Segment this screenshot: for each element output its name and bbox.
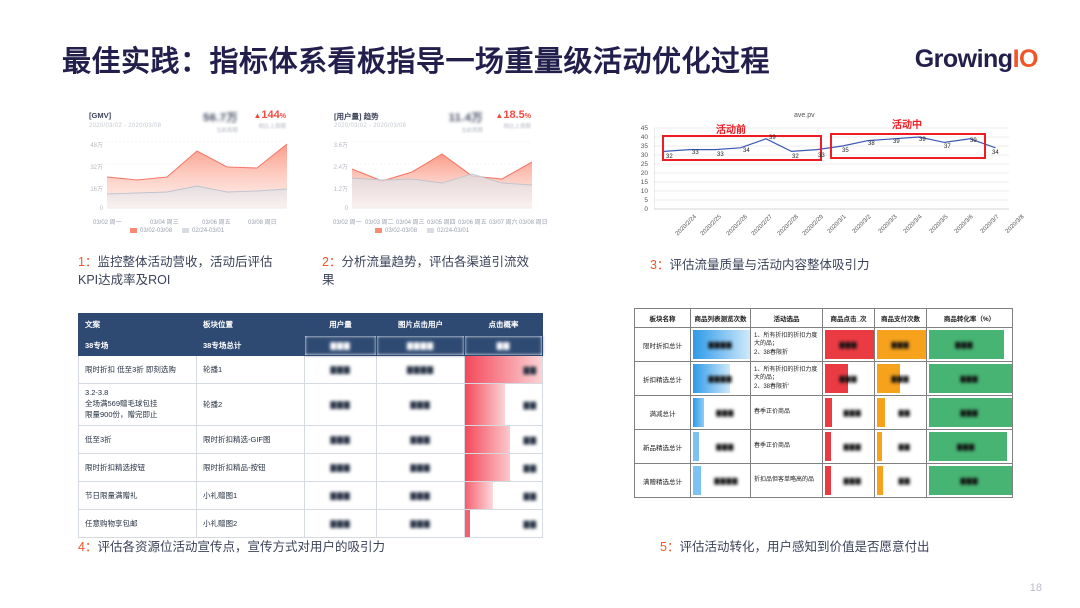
chart-avepv-label-during: 活动中 xyxy=(892,116,922,131)
cell-users: ▇▇▇ xyxy=(305,482,377,510)
views-value: ▇▇▇▇ xyxy=(709,341,733,349)
chart-gmv-delta-metric: ▲144% 相比上周期 xyxy=(238,109,286,130)
chart-avepv-ytick-5: 5 xyxy=(634,197,648,204)
chart-users-ytick-0: 3.6万 xyxy=(320,140,348,149)
views-bar-wrap: ▇▇▇ xyxy=(691,430,750,463)
cell-prob: ▇▇ xyxy=(465,356,543,384)
chart-users-xtick-6: 03/08 周日 xyxy=(519,217,548,226)
chart-avepv-point-label-1: 33 xyxy=(692,150,699,156)
pays-bar-wrap: ▇▇ xyxy=(875,464,926,497)
chart-avepv-point-label-11: 37 xyxy=(944,144,951,150)
cell-slot: 轮播2 xyxy=(197,384,305,426)
clicks-bar xyxy=(825,398,832,427)
chart-avepv-point-label-3: 34 xyxy=(743,148,750,154)
cell-picks: 1、所有折扣的折扣力度大的品； 2、38春限折' xyxy=(751,362,823,396)
table-creative-header-row: 文案 板块位置 用户量 图片点击用户 点击概率 xyxy=(79,314,543,336)
cell-users: ▇▇▇ xyxy=(305,384,377,426)
views-bar xyxy=(693,466,701,495)
cell-views: ▇▇▇▇ xyxy=(691,362,751,396)
cell-copy: 低至3折 xyxy=(79,426,197,454)
prob-value: ▇▇ xyxy=(523,435,537,444)
table-conversion: 板块名称 商品列表测览次数 活动选品 商品点击_次 商品支付次数 商品转化率（%… xyxy=(634,308,1013,498)
views-bar-wrap: ▇▇▇ xyxy=(691,396,750,429)
prob-value: ▇▇ xyxy=(523,463,537,472)
chart-avepv-point-label-10: 39 xyxy=(919,137,926,143)
cell-clicks: ▇▇▇ xyxy=(377,482,465,510)
cell-clicks: ▇▇▇ xyxy=(377,510,465,538)
cell-pays: ▇▇ xyxy=(875,430,927,464)
pays-bar xyxy=(877,466,883,495)
chart-avepv-point-label-0: 32 xyxy=(666,154,673,160)
chart-avepv-xtick-3: 2020/2/27 xyxy=(751,214,774,237)
table-conversion-header-row: 板块名称 商品列表测览次数 活动选品 商品点击_次 商品支付次数 商品转化率（%… xyxy=(635,309,1013,328)
table-row: 任意购物享包邮 小礼赠图2 ▇▇▇ ▇▇▇ ▇▇ xyxy=(79,510,543,538)
chart-avepv-box-during xyxy=(830,133,986,159)
chart-gmv-plot xyxy=(107,136,287,216)
cell-clicks: ▇▇▇ xyxy=(823,328,875,362)
table-creative-performance: 文案 板块位置 用户量 图片点击用户 点击概率 38专场 38专场总计 ▇▇▇ … xyxy=(78,313,543,538)
prob-value: ▇▇ xyxy=(523,519,537,528)
growingio-logo: GrowingIO xyxy=(915,45,1038,74)
prob-bar-wrap: ▇▇ xyxy=(465,454,542,481)
cell-prob: ▇▇ xyxy=(465,482,543,510)
chart-users-legend-item-0: 03/02-03/08 xyxy=(375,228,417,234)
pays-value: ▇▇▇ xyxy=(892,341,910,349)
pays-value: ▇▇ xyxy=(899,477,911,485)
chart-users-delta-metric: ▲18.5% 相比上周期 xyxy=(483,109,531,130)
chart-gmv-current-value: 56.7万 xyxy=(190,109,238,125)
chart-avepv-xtick-7: 2020/3/2 xyxy=(852,214,873,235)
clicks-bar-wrap: ▇▇▇ xyxy=(823,396,874,429)
table-row: 3.2-3.8 全场满569赠毛球包挂 限量900份，赠完即止 轮播2 ▇▇▇ … xyxy=(79,384,543,426)
summary-cell-4: ▇▇ xyxy=(465,336,543,356)
chart-users-xtick-3: 03/05 周四 xyxy=(427,217,456,226)
pays-bar xyxy=(877,398,885,427)
caption-2: 2：分析流量趋势，评估各渠道引流效果 xyxy=(322,253,537,289)
clicks-bar xyxy=(825,432,831,461)
clicks-value: ▇▇▇ xyxy=(844,409,862,417)
chart-gmv-legend-item-0: 03/02-03/08 xyxy=(130,228,172,234)
pays-bar-wrap: ▇▇▇ xyxy=(875,328,926,361)
cell-picks: 折扣品但客单略高的品 xyxy=(751,464,823,498)
chart-gmv-ytick-0: 48万 xyxy=(75,140,103,149)
chart-gmv-delta-unit: % xyxy=(280,113,286,120)
chart-users-delta-value: ▲18.5% xyxy=(483,109,531,121)
chart-gmv-delta-number: 144 xyxy=(261,109,279,121)
chart-users-title: [用户量] 趋势 xyxy=(334,111,379,122)
cell-clicks: ▇▇▇ xyxy=(823,362,875,396)
chart-avepv-xtick-10: 2020/3/5 xyxy=(929,214,950,235)
chart-avepv-point-label-12: 39 xyxy=(970,138,977,144)
chart-gmv-xtick-3: 03/08 周日 xyxy=(248,217,277,226)
views-value: ▇▇▇▇ xyxy=(709,375,733,383)
pays-bar-wrap: ▇▇▇ xyxy=(875,362,926,395)
chart-avepv-point-label-6: 33 xyxy=(818,153,825,159)
chart-users-daterange: 2020/03/02 - 2020/03/08 xyxy=(334,123,406,129)
table-row: 限时折扣 低至3折 即刻选购 轮播1 ▇▇▇ ▇▇▇▇ ▇▇ xyxy=(79,356,543,384)
chart-gmv-legend: 03/02-03/08 02/24-03/01 xyxy=(130,228,224,234)
cell-clicks: ▇▇▇ xyxy=(377,426,465,454)
cell-pays: ▇▇▇ xyxy=(875,328,927,362)
table-conversion-header-0: 板块名称 xyxy=(635,309,691,328)
rate-value: ▇▇▇ xyxy=(961,375,979,383)
rate-bar-wrap: ▇▇▇ xyxy=(927,396,1012,429)
chart-users-ytick-2: 1.2万 xyxy=(320,184,348,193)
caption-1-text: 监控整体活动营收，活动后评估KPI达成率及ROI xyxy=(78,255,272,287)
rate-value: ▇▇▇ xyxy=(961,409,979,417)
prob-bar xyxy=(465,510,470,537)
cell-section-name: 满赠精选总计 xyxy=(635,464,691,498)
chart-avepv-xtick-12: 2020/3/7 xyxy=(980,214,1001,235)
chart-gmv-xtick-2: 03/06 周五 xyxy=(202,217,231,226)
pays-value: ▇▇ xyxy=(899,409,911,417)
chart-avepv-xtick-11: 2020/3/6 xyxy=(954,214,975,235)
chart-avepv-ytick-30: 30 xyxy=(634,152,648,159)
chart-avepv-point-label-5: 32 xyxy=(792,154,799,160)
table-row: 满赠精选总计 ▇▇▇▇ 折扣品但客单略高的品 ▇▇▇ xyxy=(635,464,1013,498)
prob-bar xyxy=(465,482,493,509)
rate-bar-wrap: ▇▇▇ xyxy=(927,464,1012,497)
cell-views: ▇▇▇ xyxy=(691,396,751,430)
cell-clicks: ▇▇▇ xyxy=(377,454,465,482)
cell-clicks: ▇▇▇ xyxy=(823,396,875,430)
chart-avepv-label-before: 活动前 xyxy=(716,121,746,136)
clicks-bar xyxy=(825,466,831,495)
cell-copy: 限时折扣 低至3折 即刻选购 xyxy=(79,356,197,384)
cell-section-name: 满减总计 xyxy=(635,396,691,430)
table-creative-header-1: 板块位置 xyxy=(197,314,305,336)
cell-clicks: ▇▇▇▇ xyxy=(377,356,465,384)
cell-copy: 3.2-3.8 全场满569赠毛球包挂 限量900份，赠完即止 xyxy=(79,384,197,426)
views-bar xyxy=(693,432,699,461)
chart-avepv-ytick-10: 10 xyxy=(634,188,648,195)
chart-avepv-ytick-0: 0 xyxy=(634,206,648,213)
legend-swatch-current xyxy=(375,228,382,233)
chart-gmv-xtick-1: 03/04 周三 xyxy=(150,217,179,226)
cell-picks-text: 折扣品但客单略高的品 xyxy=(754,477,814,483)
prob-value: ▇▇ xyxy=(523,400,537,409)
cell-clicks: ▇▇▇ xyxy=(823,464,875,498)
caption-1-number: 1： xyxy=(78,255,97,269)
prob-bar-wrap: ▇▇ xyxy=(465,482,542,509)
prob-value: ▇▇ xyxy=(523,365,537,374)
table-row: 限时折扣精选按钮 限时折扣精品-按钮 ▇▇▇ ▇▇▇ ▇▇ xyxy=(79,454,543,482)
summary-cell-1: 38专场总计 xyxy=(197,336,305,356)
caption-5-text: 评估活动转化，用户感知到价值是否愿意付出 xyxy=(679,540,929,554)
cell-picks-text: 1、所有折扣的折扣力度大的品； 2、38春限折' xyxy=(754,367,817,389)
chart-gmv-title: [GMV] xyxy=(89,111,111,120)
chart-avepv-ytick-40: 40 xyxy=(634,134,648,141)
table-conversion-header-5: 商品转化率（%） xyxy=(927,309,1013,328)
chart-gmv: [GMV] 2020/03/02 - 2020/03/08 56.7万 当前周期… xyxy=(75,103,290,231)
table-creative-summary-row: 38专场 38专场总计 ▇▇▇ ▇▇▇▇ ▇▇ xyxy=(79,336,543,356)
pays-value: ▇▇ xyxy=(899,443,911,451)
table-creative-header-0: 文案 xyxy=(79,314,197,336)
legend-swatch-previous xyxy=(427,228,434,233)
summary-cell-2: ▇▇▇ xyxy=(305,336,377,356)
clicks-bar-wrap: ▇▇▇ xyxy=(823,430,874,463)
rate-value: ▇▇▇ xyxy=(957,443,975,451)
chart-gmv-daterange: 2020/03/02 - 2020/03/08 xyxy=(89,123,161,129)
cell-section-name: 折扣精选总计 xyxy=(635,362,691,396)
caption-4-number: 4： xyxy=(78,540,97,554)
chart-users-legend-item-1: 02/24-03/01 xyxy=(427,228,469,234)
prob-bar xyxy=(465,384,505,425)
caption-3: 3：评估流量质量与活动内容整体吸引力 xyxy=(650,256,1030,274)
prob-bar-wrap: ▇▇ xyxy=(465,384,542,425)
clicks-bar-wrap: ▇▇▇ xyxy=(823,464,874,497)
rate-bar-wrap: ▇▇▇ xyxy=(927,328,1012,361)
chart-users-xtick-2: 03/04 周三 xyxy=(396,217,425,226)
chart-avepv-point-label-9: 39 xyxy=(893,139,900,145)
chart-avepv-point-label-8: 38 xyxy=(868,141,875,147)
legend-swatch-previous xyxy=(182,228,189,233)
prob-bar xyxy=(465,454,510,481)
cell-slot: 限时折扣精品-按钮 xyxy=(197,454,305,482)
table-conversion-header-2: 活动选品 xyxy=(751,309,823,328)
cell-copy-text: 3.2-3.8 全场满569赠毛球包挂 限量900份，赠完即止 xyxy=(85,388,158,419)
prob-value: ▇▇ xyxy=(523,491,537,500)
caption-2-number: 2： xyxy=(322,255,341,269)
chart-avepv-point-label-4: 39 xyxy=(769,135,776,141)
chart-users-xtick-0: 03/02 周一 xyxy=(333,217,362,226)
rate-value: ▇▇▇ xyxy=(955,341,973,349)
table-row: 新品精选总计 ▇▇▇ 春季正价商品 ▇▇▇ xyxy=(635,430,1013,464)
chart-users-xtick-5: 03/07 周六 xyxy=(489,217,518,226)
prob-bar-wrap: ▇▇ xyxy=(465,426,542,453)
caption-2-text: 分析流量趋势，评估各渠道引流效果 xyxy=(322,255,529,287)
cell-slot: 小礼赠图2 xyxy=(197,510,305,538)
views-value: ▇▇▇ xyxy=(716,409,734,417)
table-creative-header-3: 图片点击用户 xyxy=(377,314,465,336)
cell-views: ▇▇▇ xyxy=(691,430,751,464)
views-value: ▇▇▇ xyxy=(716,443,734,451)
chart-avepv-ytick-25: 25 xyxy=(634,161,648,168)
rate-value: ▇▇▇ xyxy=(961,477,979,485)
cell-slot: 限时折扣精选-GIF图 xyxy=(197,426,305,454)
chart-avepv-ytick-45: 45 xyxy=(634,125,648,132)
clicks-bar-wrap: ▇▇▇ xyxy=(823,328,874,361)
chart-users-ytick-1: 2.4万 xyxy=(320,162,348,171)
caption-3-text: 评估流量质量与活动内容整体吸引力 xyxy=(669,258,869,272)
chart-users-xtick-1: 03/03 周二 xyxy=(365,217,394,226)
cell-pays: ▇▇ xyxy=(875,396,927,430)
cell-rate: ▇▇▇ xyxy=(927,328,1013,362)
cell-picks-text: 春季正价商品 xyxy=(754,443,790,449)
table-creative-header-4: 点击概率 xyxy=(465,314,543,336)
clicks-value: ▇▇▇ xyxy=(840,375,858,383)
pays-bar-wrap: ▇▇ xyxy=(875,396,926,429)
cell-rate: ▇▇▇ xyxy=(927,362,1013,396)
chart-users-current-value: 11.4万 xyxy=(435,109,483,125)
caption-5: 5：评估活动转化，用户感知到价值是否愿意付出 xyxy=(660,538,1040,556)
cell-picks: 春季正价商品 xyxy=(751,430,823,464)
chart-users-xtick-4: 03/06 周五 xyxy=(458,217,487,226)
caption-3-number: 3： xyxy=(650,258,669,272)
chart-avepv-xtick-13: 2020/3/8 xyxy=(1005,214,1026,235)
cell-prob: ▇▇ xyxy=(465,454,543,482)
chart-users: [用户量] 趋势 2020/03/02 - 2020/03/08 11.4万 当… xyxy=(320,103,535,231)
legend-swatch-current xyxy=(130,228,137,233)
chart-users-delta-number: 18.5 xyxy=(503,109,524,121)
cell-picks-text: 春季正价商品 xyxy=(754,409,790,415)
chart-users-legend: 03/02-03/08 02/24-03/01 xyxy=(375,228,469,234)
cell-clicks: ▇▇▇ xyxy=(377,384,465,426)
table-row: 满减总计 ▇▇▇ 春季正价商品 ▇▇▇ xyxy=(635,396,1013,430)
clicks-bar-wrap: ▇▇▇ xyxy=(823,362,874,395)
chart-users-delta-unit: % xyxy=(525,113,531,120)
chart-avepv-xtick-4: 2020/2/28 xyxy=(777,214,800,237)
cell-prob: ▇▇ xyxy=(465,426,543,454)
cell-picks: 1、所有折扣的折扣力度大的品； 2、38春限折 xyxy=(751,328,823,362)
cell-clicks: ▇▇▇ xyxy=(823,430,875,464)
cell-section-name: 限时折扣总计 xyxy=(635,328,691,362)
caption-5-number: 5： xyxy=(660,540,679,554)
table-row: 折扣精选总计 ▇▇▇▇ 1、所有折扣的折扣力度大的品； 2、38春限折' ▇▇▇ xyxy=(635,362,1013,396)
chart-avepv-point-label-7: 35 xyxy=(842,148,849,154)
cell-rate: ▇▇▇ xyxy=(927,464,1013,498)
chart-gmv-ytick-1: 32万 xyxy=(75,162,103,171)
cell-users: ▇▇▇ xyxy=(305,454,377,482)
views-value: ▇▇▇▇ xyxy=(714,477,738,485)
prob-bar-wrap: ▇▇ xyxy=(465,510,542,537)
chart-avepv-ytick-35: 35 xyxy=(634,143,648,150)
pays-bar xyxy=(877,432,882,461)
chart-avepv-xtick-0: 2020/2/24 xyxy=(675,214,698,237)
chart-gmv-ytick-2: 16万 xyxy=(75,184,103,193)
chart-avepv-title: ave.pv xyxy=(794,112,815,119)
page-title: 最佳实践：指标体系看板指导一场重量级活动优化过程 xyxy=(62,38,770,80)
cell-rate: ▇▇▇ xyxy=(927,430,1013,464)
chart-avepv-xtick-2: 2020/2/26 xyxy=(726,214,749,237)
cell-views: ▇▇▇▇ xyxy=(691,328,751,362)
chart-gmv-delta-caption: 相比上周期 xyxy=(238,122,286,130)
table-row: 节日限量满赠礼 小礼赠图1 ▇▇▇ ▇▇▇ ▇▇ xyxy=(79,482,543,510)
chart-users-delta-caption: 相比上周期 xyxy=(483,122,531,130)
views-bar-wrap: ▇▇▇▇ xyxy=(691,362,750,395)
clicks-value: ▇▇▇ xyxy=(844,477,862,485)
chart-users-plot xyxy=(352,136,532,216)
cell-picks: 春季正价商品 xyxy=(751,396,823,430)
chart-avepv-xtick-1: 2020/2/25 xyxy=(700,214,723,237)
table-conversion-header-3: 商品点击_次 xyxy=(823,309,875,328)
views-bar xyxy=(693,398,704,427)
chart-gmv-current-metric: 56.7万 当前周期 xyxy=(190,109,238,134)
table-row: 低至3折 限时折扣精选-GIF图 ▇▇▇ ▇▇▇ ▇▇ xyxy=(79,426,543,454)
prob-bar xyxy=(465,426,510,453)
caption-1: 1：监控整体活动营收，活动后评估KPI达成率及ROI xyxy=(78,253,288,289)
chart-gmv-ytick-3: 0 xyxy=(75,206,103,212)
chart-gmv-current-caption: 当前周期 xyxy=(190,126,238,134)
chart-avepv-xtick-9: 2020/3/4 xyxy=(903,214,924,235)
chart-gmv-delta-value: ▲144% xyxy=(238,109,286,121)
rate-bar-wrap: ▇▇▇ xyxy=(927,362,1012,395)
prob-bar-wrap: ▇▇ xyxy=(465,356,542,383)
chart-users-current-caption: 当前周期 xyxy=(435,126,483,134)
rate-bar-wrap: ▇▇▇ xyxy=(927,430,1012,463)
cell-prob: ▇▇ xyxy=(465,384,543,426)
clicks-value: ▇▇▇ xyxy=(840,341,858,349)
chart-avepv-xtick-6: 2020/3/1 xyxy=(827,214,848,235)
chart-gmv-xtick-0: 03/02 周一 xyxy=(93,217,122,226)
cell-slot: 小礼赠图1 xyxy=(197,482,305,510)
table-row: 限时折扣总计 ▇▇▇▇ 1、所有折扣的折扣力度大的品； 2、38春限折 ▇▇▇ xyxy=(635,328,1013,362)
cell-views: ▇▇▇▇ xyxy=(691,464,751,498)
logo-primary-text: Growing xyxy=(915,45,1013,73)
chart-users-ytick-3: 0 xyxy=(320,206,348,212)
chart-avepv: ave.pv 45 40 35 30 25 20 15 10 5 0 xyxy=(634,104,1012,229)
cell-rate: ▇▇▇ xyxy=(927,396,1013,430)
summary-cell-0: 38专场 xyxy=(79,336,197,356)
table-conversion-header-1: 商品列表测览次数 xyxy=(691,309,751,328)
caption-4-text: 评估各资源位活动宣传点，宣传方式对用户的吸引力 xyxy=(97,540,385,554)
cell-pays: ▇▇ xyxy=(875,464,927,498)
clicks-value: ▇▇▇ xyxy=(844,443,862,451)
chart-avepv-ytick-15: 15 xyxy=(634,179,648,186)
cell-copy: 节日限量满赠礼 xyxy=(79,482,197,510)
cell-prob: ▇▇ xyxy=(465,510,543,538)
caption-4: 4：评估各资源位活动宣传点，宣传方式对用户的吸引力 xyxy=(78,538,538,556)
cell-users: ▇▇▇ xyxy=(305,356,377,384)
table-creative-header-2: 用户量 xyxy=(305,314,377,336)
chart-avepv-ytick-20: 20 xyxy=(634,170,648,177)
cell-pays: ▇▇▇ xyxy=(875,362,927,396)
cell-users: ▇▇▇ xyxy=(305,510,377,538)
pays-value: ▇▇▇ xyxy=(892,375,910,383)
chart-avepv-point-label-13: 34 xyxy=(992,150,999,156)
page-number: 18 xyxy=(1030,582,1042,594)
cell-copy: 限时折扣精选按钮 xyxy=(79,454,197,482)
table-conversion-header-4: 商品支付次数 xyxy=(875,309,927,328)
cell-slot: 轮播1 xyxy=(197,356,305,384)
chart-avepv-xtick-8: 2020/3/3 xyxy=(878,214,899,235)
chart-avepv-point-label-2: 33 xyxy=(717,152,724,158)
chart-users-current-metric: 11.4万 当前周期 xyxy=(435,109,483,134)
cell-section-name: 新品精选总计 xyxy=(635,430,691,464)
cell-picks-text: 1、所有折扣的折扣力度大的品； 2、38春限折 xyxy=(754,333,817,355)
logo-accent-text: IO xyxy=(1013,45,1038,73)
cell-copy: 任意购物享包邮 xyxy=(79,510,197,538)
slide: 最佳实践：指标体系看板指导一场重量级活动优化过程 GrowingIO [GMV]… xyxy=(0,0,1080,608)
views-bar-wrap: ▇▇▇▇ xyxy=(691,464,750,497)
views-bar-wrap: ▇▇▇▇ xyxy=(691,328,750,361)
chart-gmv-legend-item-1: 02/24-03/01 xyxy=(182,228,224,234)
chart-avepv-xtick-5: 2020/2/29 xyxy=(802,214,825,237)
summary-cell-3: ▇▇▇▇ xyxy=(377,336,465,356)
pays-bar-wrap: ▇▇ xyxy=(875,430,926,463)
cell-users: ▇▇▇ xyxy=(305,426,377,454)
